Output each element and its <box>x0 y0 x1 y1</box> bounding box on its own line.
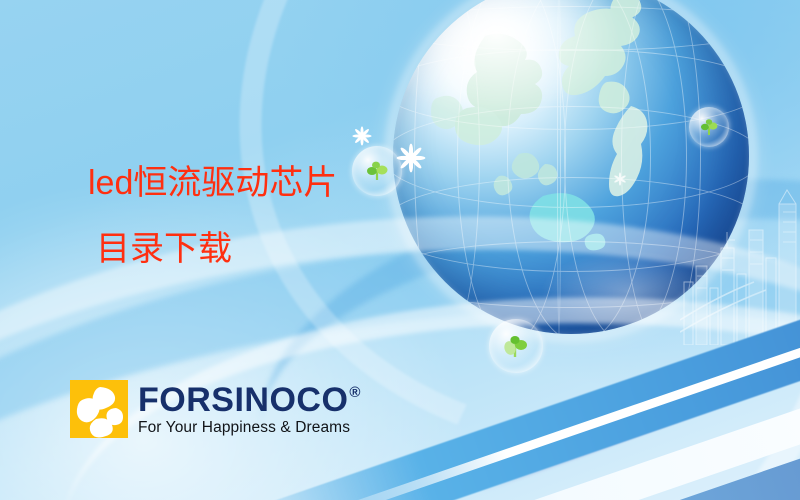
brand-name: FORSINOCO <box>138 383 348 417</box>
brand-wordmark: FORSINOCO ® <box>138 383 361 417</box>
bubble-with-green-sprout-icon <box>352 146 402 196</box>
brand-tagline: For Your Happiness & Dreams <box>138 420 361 436</box>
four-petal-flower-icon <box>70 380 128 438</box>
globe-icon <box>393 0 749 334</box>
globe-continents <box>393 0 749 334</box>
registered-trademark-icon: ® <box>349 385 361 400</box>
daisy-starburst-icon <box>396 143 426 173</box>
page-title-line-1: led恒流驱动芯片 <box>88 166 337 200</box>
poster-canvas: led恒流驱动芯片 目录下载 FORSINOCO ® For Your Happ… <box>0 0 800 500</box>
brand-logo: FORSINOCO ® For Your Happiness & Dreams <box>70 380 361 438</box>
globe-sphere <box>393 0 749 334</box>
page-title-line-2: 目录下载 <box>96 232 232 266</box>
daisy-starburst-icon <box>613 172 627 186</box>
bubble-with-green-sprout-icon <box>489 319 543 373</box>
city-skyline-icon <box>680 170 800 345</box>
bubble-with-green-sprout-icon <box>689 107 729 147</box>
brand-text: FORSINOCO ® For Your Happiness & Dreams <box>138 383 361 436</box>
globe-rim-glow <box>384 0 758 343</box>
daisy-starburst-icon <box>352 126 372 146</box>
globe-highlight <box>393 0 749 334</box>
globe-grid-lines <box>393 0 749 334</box>
